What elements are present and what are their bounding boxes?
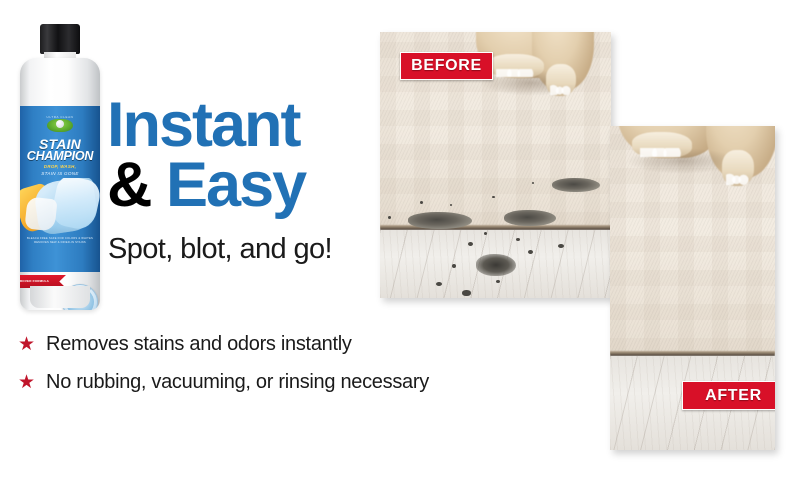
subheadline: Spot, blot, and go! <box>108 233 408 266</box>
bottle-label: ULTRA CLEAN STAIN CHAMPION DROP, WASH, S… <box>20 106 100 272</box>
list-item: ★ No rubbing, vacuuming, or rinsing nece… <box>18 371 488 394</box>
headline-line-2: & Easy <box>107 154 382 217</box>
label-tagline-yellow: DROP, WASH, <box>20 164 100 169</box>
dirt-clump <box>408 212 472 229</box>
dirt-speck <box>450 204 452 206</box>
bottle-base <box>30 286 90 308</box>
headline-easy: Easy <box>166 150 305 220</box>
dirt-speck <box>492 196 495 198</box>
headline-block: Instant & Easy <box>107 96 382 217</box>
dirt-pile-floor <box>476 254 516 276</box>
dirt-speck <box>436 282 442 286</box>
after-badge: AFTER <box>682 381 775 410</box>
after-photo-panel: AFTER <box>610 126 775 450</box>
before-badge-label: BEFORE <box>411 57 482 75</box>
star-icon: ★ <box>18 335 35 354</box>
dirt-speck <box>516 238 520 241</box>
headline-ampersand: & <box>107 150 151 220</box>
star-icon: ★ <box>18 373 35 392</box>
dirt-speck <box>468 242 473 246</box>
bullet-text: Removes stains and odors instantly <box>46 333 352 356</box>
dirt-clump <box>504 210 556 226</box>
dirt-speck <box>452 264 456 268</box>
after-scene: AFTER <box>610 126 775 450</box>
bottle-cap-icon <box>40 24 80 54</box>
before-photo-panel: BEFORE <box>380 32 611 298</box>
before-scene: BEFORE <box>380 32 611 298</box>
bottle-body: ULTRA CLEAN STAIN CHAMPION DROP, WASH, S… <box>20 58 100 310</box>
product-bottle: ULTRA CLEAN STAIN CHAMPION DROP, WASH, S… <box>14 24 106 314</box>
brand-logo-icon <box>47 119 73 132</box>
dirt-speck <box>484 232 487 235</box>
dog-paw-front <box>488 54 544 78</box>
dog-paw-rear <box>722 150 754 186</box>
dirt-speck <box>420 201 423 204</box>
dirt-speck <box>388 216 391 219</box>
label-fineprint: BLEACH FREE SAFE FOR COLORS & WHITES REM… <box>20 237 100 245</box>
before-badge: BEFORE <box>400 52 493 80</box>
feature-bullet-list: ★ Removes stains and odors instantly ★ N… <box>18 333 488 409</box>
dirt-speck <box>496 280 500 283</box>
ribbon-label: IMPROVED FORMULA <box>20 279 49 283</box>
brand-name-line2: CHAMPION <box>20 150 100 163</box>
after-badge-label: AFTER <box>705 387 762 405</box>
label-tagline-white: STAIN IS GONE <box>20 171 100 176</box>
dirt-clump <box>552 178 600 192</box>
dirt-speck <box>528 250 533 254</box>
list-item: ★ Removes stains and odors instantly <box>18 333 488 356</box>
dirt-speck <box>462 290 471 296</box>
dirt-speck <box>558 244 564 248</box>
dog-paw-front <box>632 132 692 158</box>
dog-paw-rear <box>546 64 576 96</box>
laundry-artwork <box>20 178 100 236</box>
promo-banner: ULTRA CLEAN STAIN CHAMPION DROP, WASH, S… <box>0 0 800 495</box>
dirt-speck <box>532 182 534 184</box>
headline-line-1: Instant <box>107 96 382 156</box>
bullet-text: No rubbing, vacuuming, or rinsing necess… <box>46 371 429 394</box>
